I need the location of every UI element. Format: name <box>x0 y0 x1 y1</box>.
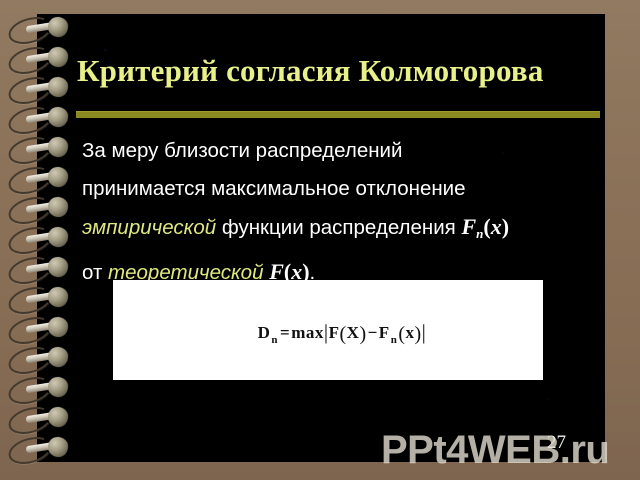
math-symbol-F-n: Fn <box>461 214 483 239</box>
accent-term-empirical: эмпирической <box>82 216 216 239</box>
formula-term1-paren-close: ) <box>359 323 366 345</box>
formula-term2-subscript: n <box>390 334 399 346</box>
body-line-1: За меру близости распределений <box>82 132 602 170</box>
formula-term1-symbol: F <box>329 323 340 342</box>
math-paren-close: ) <box>502 214 509 239</box>
formula-term2-arg: x <box>405 323 414 342</box>
formula-expression: Dn=max|F(X)−Fn(x)| <box>258 320 427 346</box>
formula-term1-arg: X <box>347 323 360 342</box>
formula-abs-close: | <box>422 320 427 344</box>
formula-box: Dn=max|F(X)−Fn(x)| <box>113 280 543 380</box>
formula-lhs-symbol: D <box>258 323 271 342</box>
formula-term2-symbol: F <box>379 323 390 342</box>
body-text-segment: За меру близости распределений <box>82 139 402 162</box>
slide-page: Критерий согласия Колмогорова За меру бл… <box>37 14 605 462</box>
slide-title: Критерий согласия Колмогорова <box>77 52 605 90</box>
math-symbol-F: F <box>461 214 476 239</box>
body-line-2: принимается максимальное отклонение <box>82 170 602 208</box>
math-paren-open: ( <box>483 214 490 239</box>
body-text-segment: принимается максимальное отклонение <box>82 177 466 200</box>
math-arg-x: x <box>491 214 502 239</box>
formula-minus: − <box>367 323 379 342</box>
body-line-3: эмпирической функции распределения Fn(x) <box>82 208 602 253</box>
formula-operator-max: max <box>291 323 324 342</box>
formula-term1-paren-open: ( <box>339 323 346 345</box>
body-text-segment: функции распределения <box>216 216 461 239</box>
slide-body-text: За меру близости распределений принимает… <box>82 132 602 292</box>
slide-page-number: 27 <box>547 432 566 454</box>
formula-term2-paren-open: ( <box>398 323 405 345</box>
formula-term2-paren-close: ) <box>414 323 421 345</box>
formula-equals: = <box>279 323 291 342</box>
body-text-segment: от <box>82 261 108 284</box>
title-underline-rule <box>76 111 600 118</box>
presentation-slide: Критерий согласия Колмогорова За меру бл… <box>0 0 640 480</box>
